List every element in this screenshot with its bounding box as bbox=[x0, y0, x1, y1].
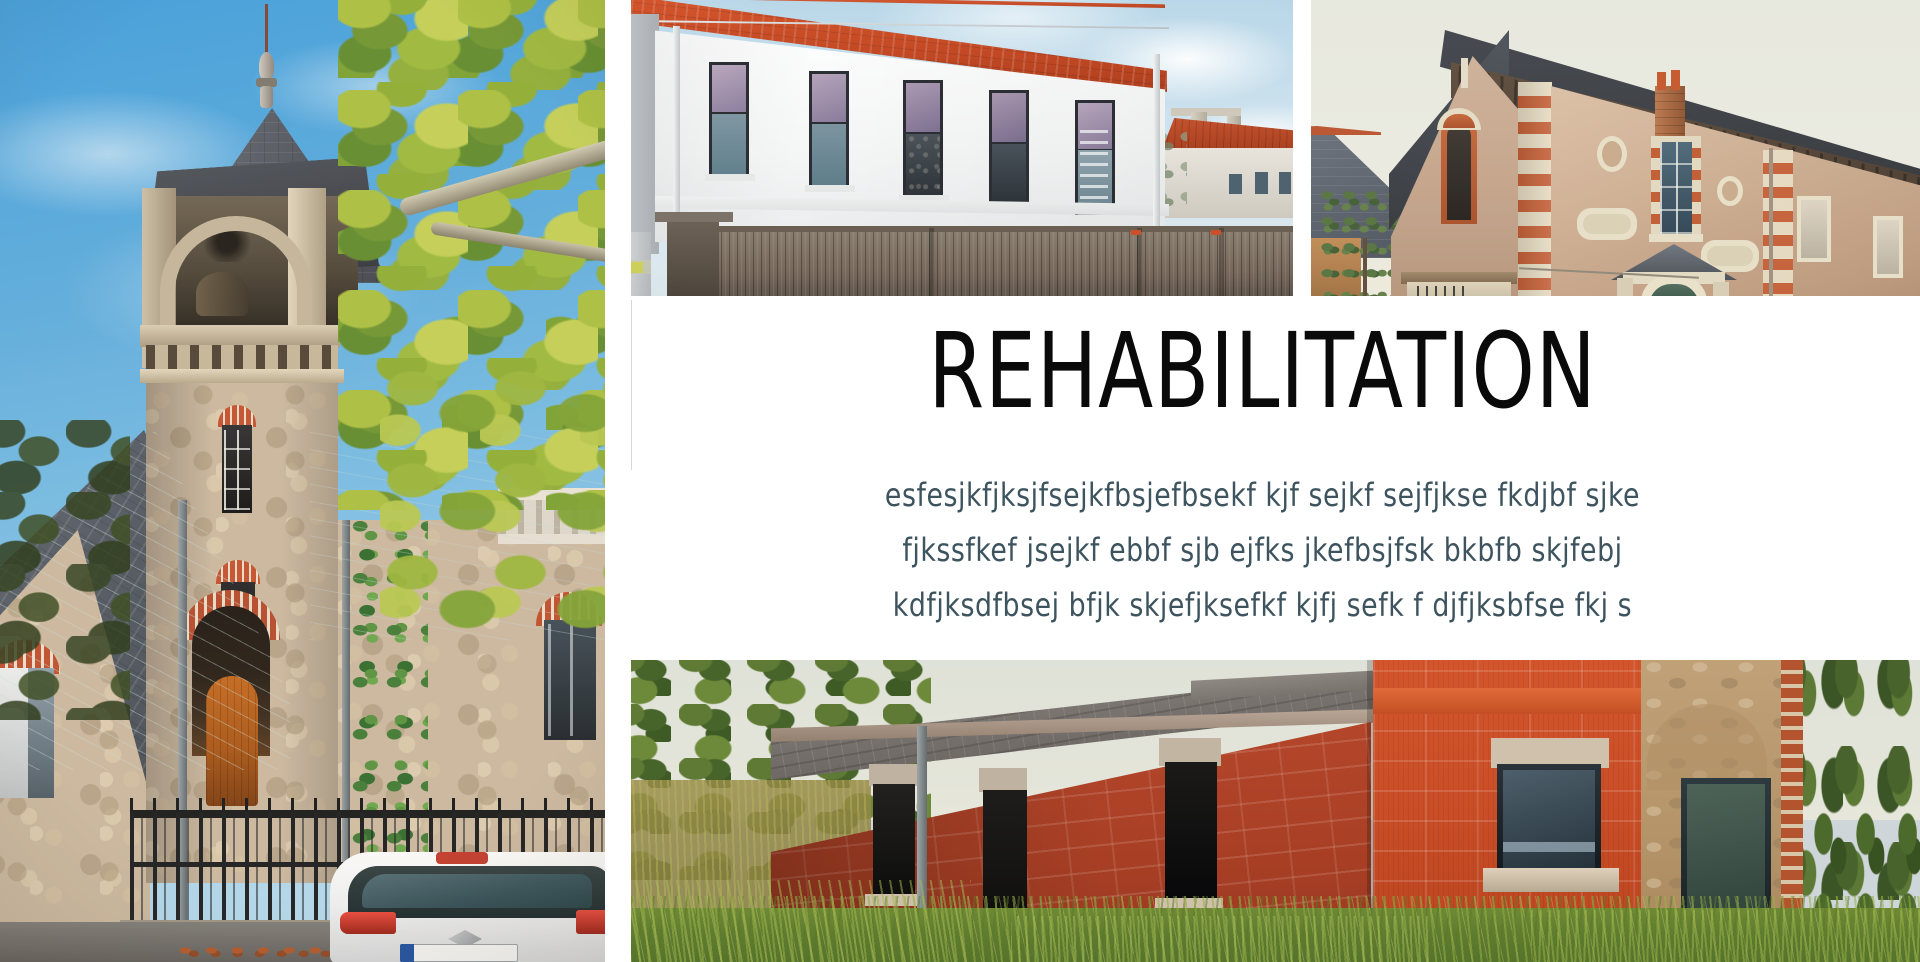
paragraph-line-2: fjkssfkef jsejkf ebbf sjb ejfks jkefbsjf… bbox=[651, 523, 1874, 578]
red-brick-shell-photo bbox=[631, 660, 1920, 962]
page-title: REHABILITATION bbox=[697, 318, 1828, 424]
paragraph-line-1: esfesjkfjksjfsejkfbsjefbsekf kjf sejkf s… bbox=[651, 468, 1874, 523]
text-panel: REHABILITATION esfesjkfjksjfsejkfbsjefbs… bbox=[605, 296, 1920, 660]
paragraph-line-3: kdfjksdfbsej bfjk skjefjksefkf kjfj sefk… bbox=[651, 578, 1874, 633]
paragraph: esfesjkfjksjfsejkfbsjefbsekf kjf sejkf s… bbox=[651, 468, 1874, 633]
poster-canvas: REHABILITATION esfesjkfjksjfsejkfbsjefbs… bbox=[0, 0, 1920, 962]
beige-historic-building-photo bbox=[1311, 0, 1920, 296]
vertical-divider bbox=[631, 300, 632, 470]
stone-manor-bell-tower-photo bbox=[0, 0, 605, 962]
modern-white-building-photo bbox=[631, 0, 1293, 296]
